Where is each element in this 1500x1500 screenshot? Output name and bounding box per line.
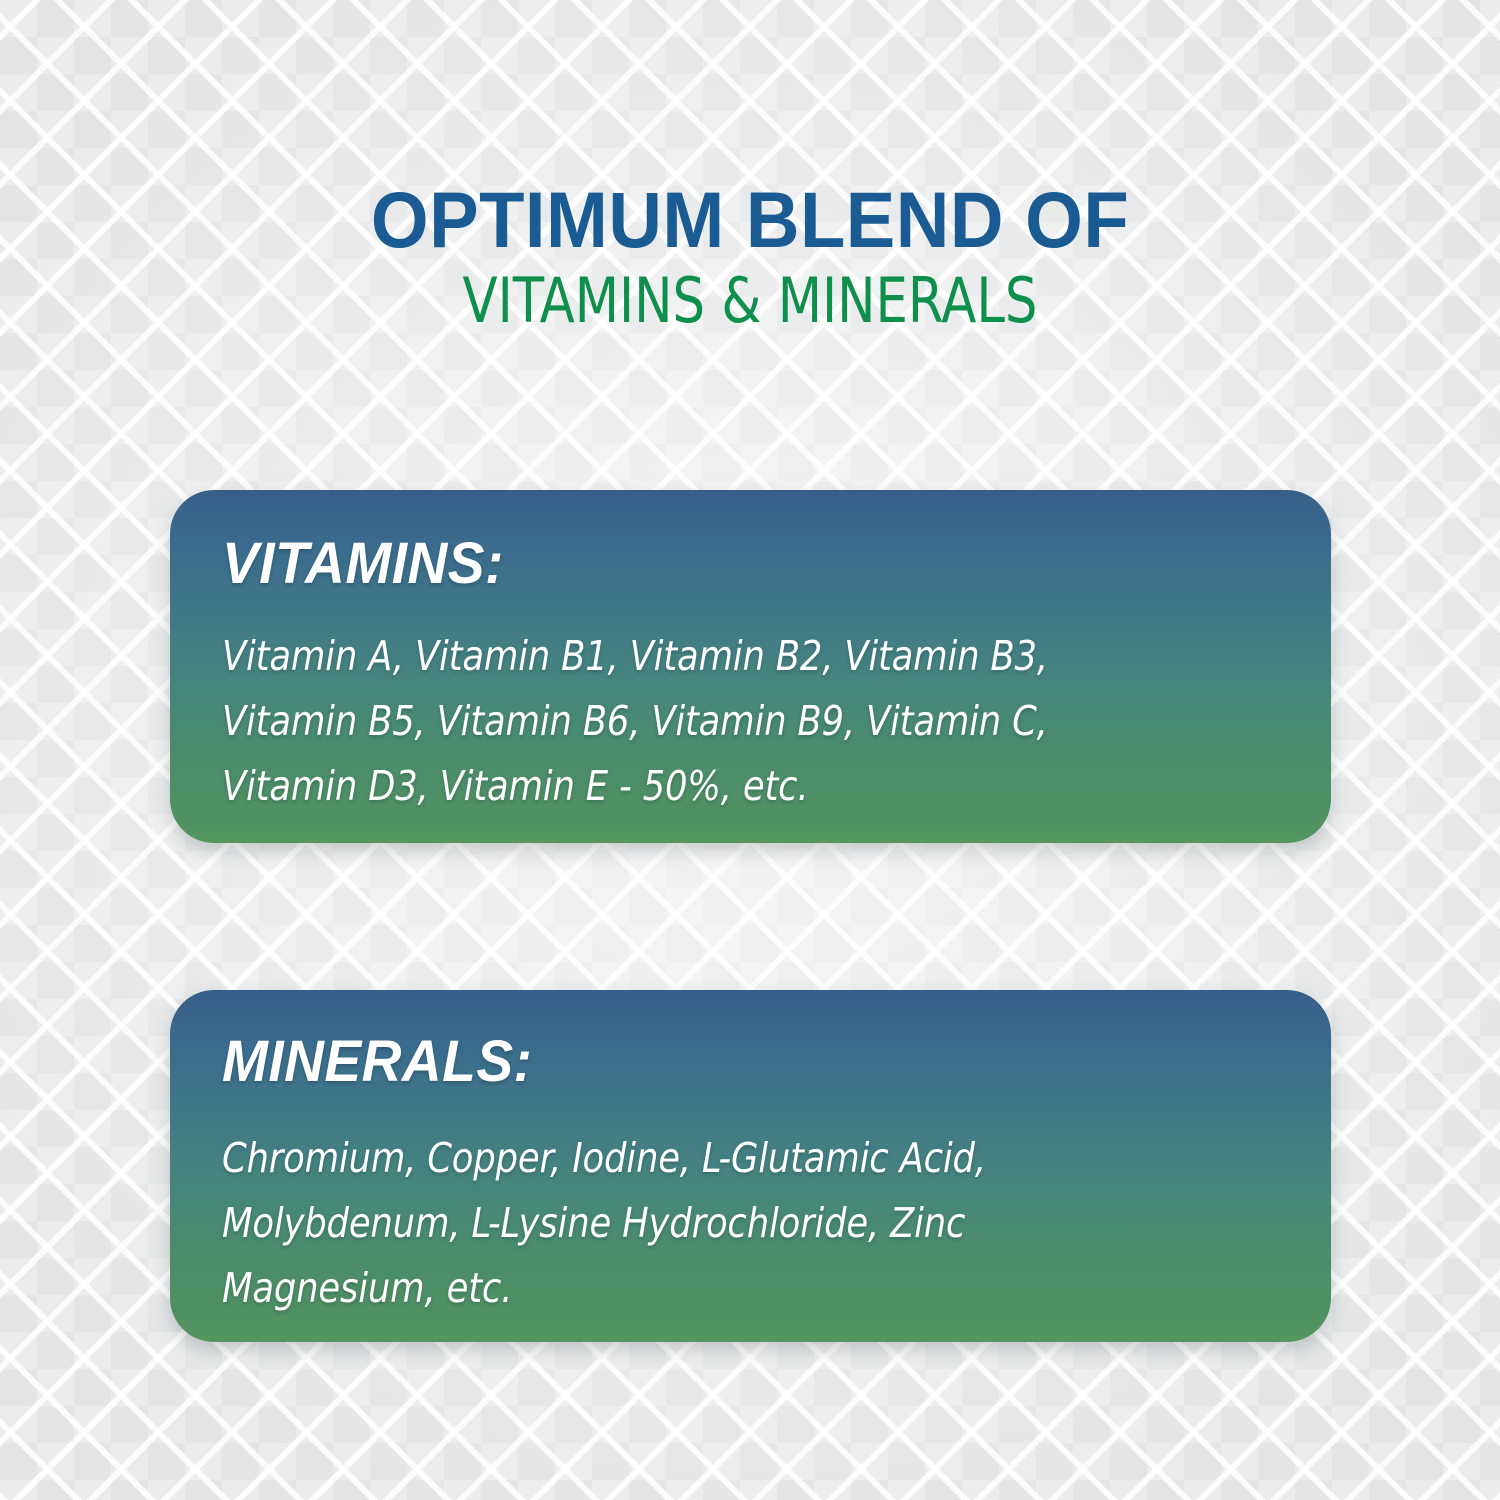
page-title: OPTIMUM BLEND OF VITAMINS & MINERALS <box>0 178 1500 334</box>
vitamins-list-line: Vitamin A, Vitamin B1, Vitamin B2, Vitam… <box>222 624 1237 689</box>
vitamins-card-heading: VITAMINS: <box>222 534 1226 594</box>
minerals-list-line: Chromium, Copper, Iodine, L-Glutamic Aci… <box>222 1126 1237 1191</box>
page-title-secondary: VITAMINS & MINERALS <box>60 268 1440 334</box>
infographic-content: OPTIMUM BLEND OF VITAMINS & MINERALS VIT… <box>0 0 1500 1500</box>
minerals-list-line: Magnesium, etc. <box>222 1256 1237 1321</box>
vitamins-card: VITAMINS: Vitamin A, Vitamin B1, Vitamin… <box>170 490 1331 843</box>
page-title-primary: OPTIMUM BLEND OF <box>45 178 1455 262</box>
vitamins-list-line: Vitamin B5, Vitamin B6, Vitamin B9, Vita… <box>222 689 1237 754</box>
vitamins-card-body: Vitamin A, Vitamin B1, Vitamin B2, Vitam… <box>222 624 1237 819</box>
vitamins-list-line: Vitamin D3, Vitamin E - 50%, etc. <box>222 754 1237 819</box>
minerals-card-heading: MINERALS: <box>222 1032 1226 1092</box>
minerals-card-body: Chromium, Copper, Iodine, L-Glutamic Aci… <box>222 1126 1237 1321</box>
minerals-list-line: Molybdenum, L-Lysine Hydrochloride, Zinc <box>222 1191 1237 1256</box>
minerals-card: MINERALS: Chromium, Copper, Iodine, L-Gl… <box>170 990 1331 1342</box>
